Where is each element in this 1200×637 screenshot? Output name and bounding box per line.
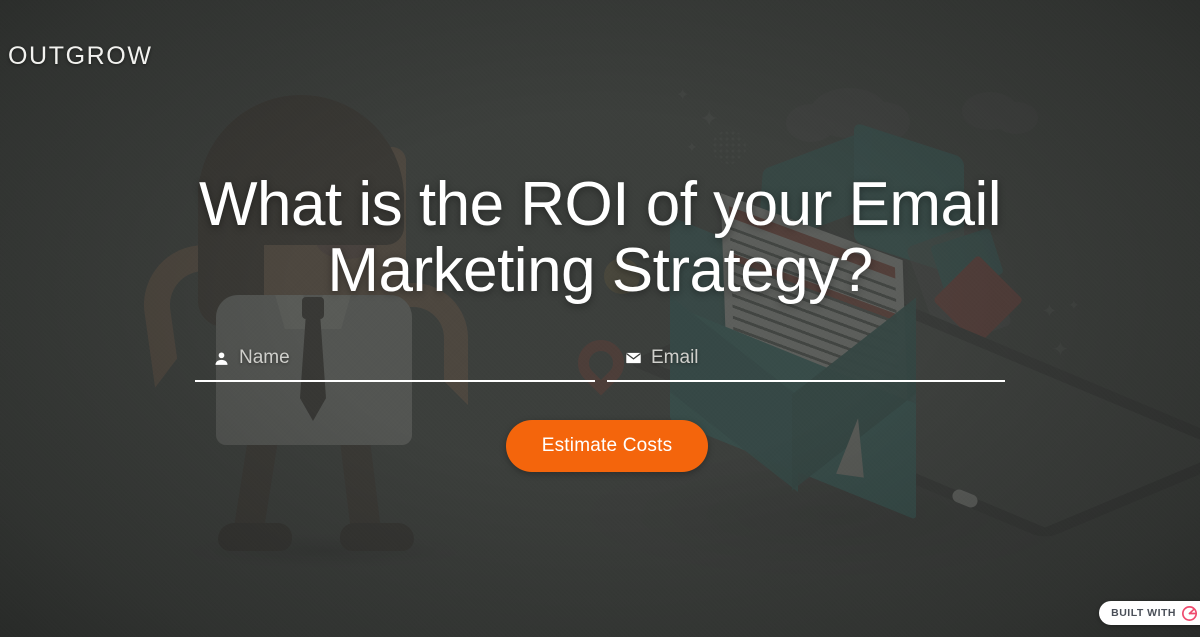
page-title: What is the ROI of your Email Marketing … xyxy=(60,172,1140,303)
lead-capture-form: Name Email xyxy=(0,340,1200,386)
estimate-costs-button[interactable]: Estimate Costs xyxy=(506,420,708,472)
outgrow-logo: OUTGROW xyxy=(8,42,153,71)
landing-page: ✦ ✦ ✦ ✦ ✦ ✦ ✦ ✦ xyxy=(0,0,1200,637)
built-with-label: BUILT WITH xyxy=(1111,607,1176,619)
outgrow-logo-icon xyxy=(1181,605,1198,622)
email-input[interactable]: Email xyxy=(651,347,699,369)
page-content: OUTGROW What is the ROI of your Email Ma… xyxy=(0,0,1200,637)
built-with-badge[interactable]: BUILT WITH xyxy=(1099,601,1200,625)
email-field[interactable]: Email xyxy=(607,340,1005,382)
envelope-icon xyxy=(625,350,642,367)
name-field[interactable]: Name xyxy=(195,340,595,382)
person-icon xyxy=(213,350,230,367)
name-input[interactable]: Name xyxy=(239,347,290,369)
